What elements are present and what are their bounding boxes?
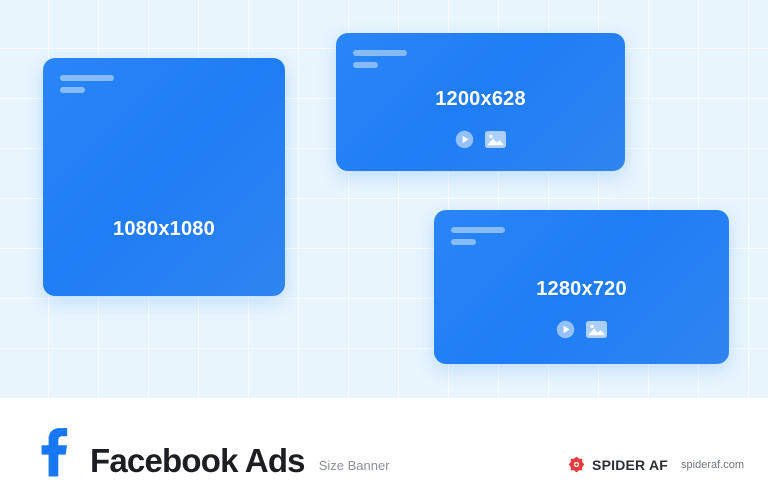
placeholder-line-short: [451, 239, 476, 245]
card-format-icons: [434, 320, 729, 339]
placeholder-line-short: [60, 87, 85, 93]
footer-bar: Facebook Ads Size Banner SPIDER AF spide…: [0, 398, 768, 498]
placeholder-line-long: [353, 50, 407, 56]
image-icon: [586, 320, 607, 339]
attribution-name: SPIDER AF: [592, 457, 668, 473]
play-icon: [556, 320, 575, 339]
card-placeholder-lines: [60, 75, 114, 93]
attribution-url[interactable]: spideraf.com: [681, 459, 744, 471]
ad-size-card-1080x1080[interactable]: 1080x1080: [43, 58, 285, 296]
card-placeholder-lines: [451, 227, 505, 245]
card-placeholder-lines: [353, 50, 407, 68]
banner-page: 1080x1080: [0, 0, 768, 498]
grid-canvas: 1080x1080: [0, 0, 768, 398]
card-format-icons: [336, 130, 625, 149]
card-size-label: 1200x628: [336, 88, 625, 111]
card-size-label: 1280x720: [434, 278, 729, 301]
facebook-f-icon: [30, 426, 76, 478]
placeholder-line-long: [60, 75, 114, 81]
ad-size-card-1280x720[interactable]: 1280x720: [434, 210, 729, 364]
ad-size-card-1200x628[interactable]: 1200x628: [336, 33, 625, 171]
spider-af-icon: [568, 456, 585, 473]
brand-block: Facebook Ads Size Banner: [30, 420, 390, 477]
attribution-block[interactable]: SPIDER AF spideraf.com: [568, 456, 744, 473]
card-size-label: 1080x1080: [43, 218, 285, 241]
play-icon: [455, 130, 474, 149]
page-subtitle: Size Banner: [319, 458, 390, 473]
placeholder-line-long: [451, 227, 505, 233]
placeholder-line-short: [353, 62, 378, 68]
page-title: Facebook Ads: [90, 444, 305, 477]
image-icon: [485, 130, 506, 149]
